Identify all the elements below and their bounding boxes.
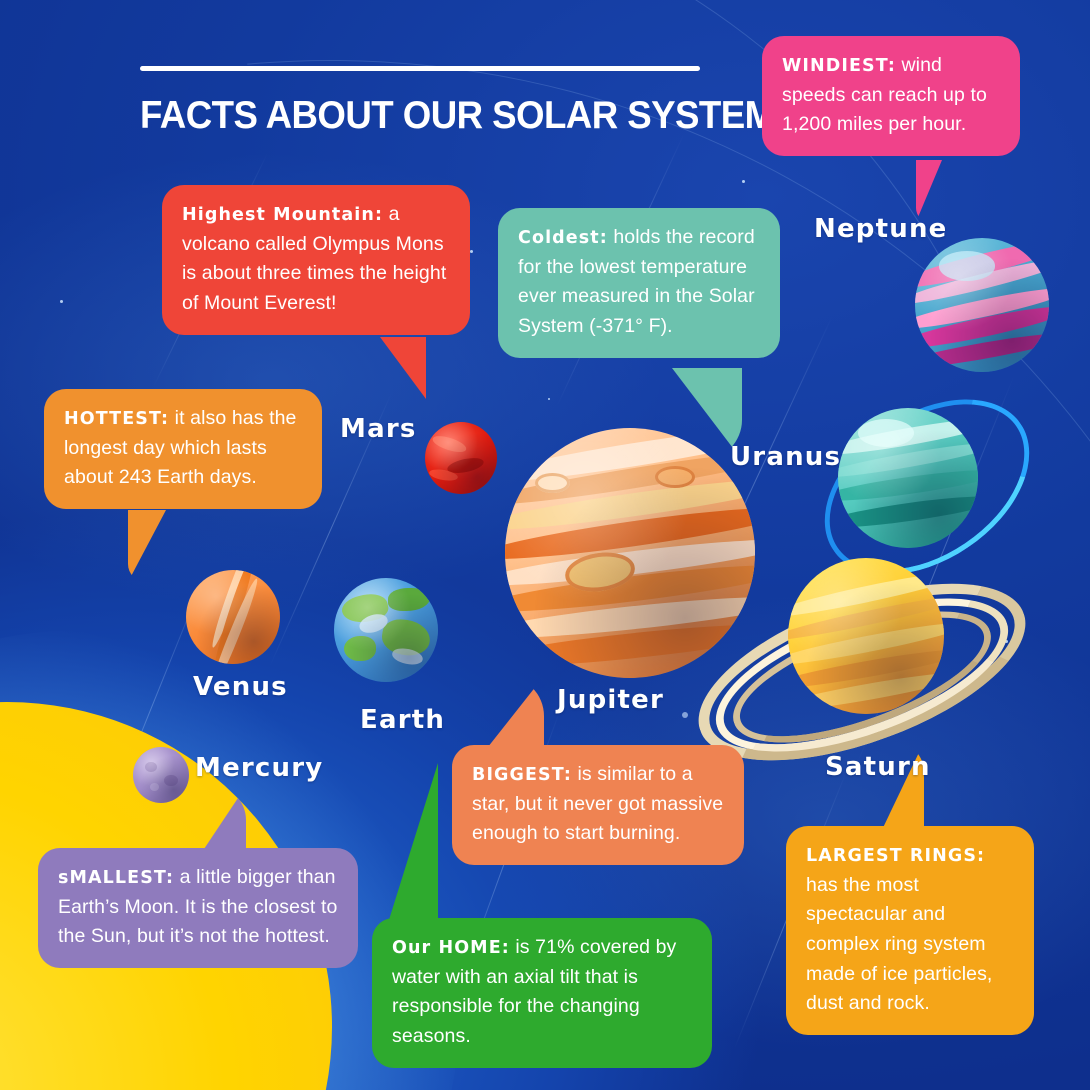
mercury-fact-lead: sMALLEST: <box>58 868 174 888</box>
page-title: FACTS ABOUT OUR SOLAR SYSTEM: <box>140 94 786 138</box>
venus-fact-lead: HOTTEST: <box>64 409 169 429</box>
planet-mercury <box>133 747 189 803</box>
earth-fact-bubble: Our HOME: is 71% covered by water with a… <box>372 918 712 1068</box>
title-rule <box>140 66 700 71</box>
planet-label-earth: Earth <box>360 705 445 735</box>
mars-fact-tail <box>380 337 426 399</box>
mercury-fact-bubble: sMALLEST: a little bigger than Earth’s M… <box>38 848 358 968</box>
earth-fact-lead: Our HOME: <box>392 938 510 958</box>
star <box>742 180 745 183</box>
planet-label-jupiter: Jupiter <box>557 685 664 715</box>
star <box>470 250 473 253</box>
venus-fact-tail <box>128 510 166 582</box>
earth-fact-tail <box>388 763 438 923</box>
neptune-fact-tail <box>916 160 942 222</box>
planet-label-uranus: Uranus <box>730 442 841 472</box>
planet-label-mercury: Mercury <box>195 753 323 783</box>
planet-label-venus: Venus <box>193 672 288 702</box>
jupiter-fact-lead: BIGGEST: <box>472 765 572 785</box>
star <box>60 300 63 303</box>
jupiter-fact-bubble: BIGGEST: is similar to a star, but it ne… <box>452 745 744 865</box>
planet-label-neptune: Neptune <box>814 214 948 244</box>
neptune-fact-bubble: WINDIEST: wind speeds can reach up to 1,… <box>762 36 1020 156</box>
neptune-fact-lead: WINDIEST: <box>782 56 896 76</box>
star <box>682 712 688 718</box>
saturn-fact-lead: LARGEST RINGS: <box>806 846 985 866</box>
saturn-fact-body: has the most spectacular and complex rin… <box>806 874 992 1015</box>
star <box>548 398 550 400</box>
venus-fact-bubble: HOTTEST: it also has the longest day whi… <box>44 389 322 509</box>
saturn-fact-bubble: LARGEST RINGS: has the most spectacular … <box>786 826 1034 1035</box>
planet-label-mars: Mars <box>340 414 417 444</box>
uranus-fact-bubble: Coldest: holds the record for the lowest… <box>498 208 780 358</box>
mercury-fact-tail <box>194 786 246 864</box>
planet-neptune <box>915 238 1049 372</box>
jupiter-fact-tail <box>484 676 544 752</box>
mars-fact-bubble: Highest Mountain: a volcano called Olymp… <box>162 185 470 335</box>
planet-mars <box>425 422 497 494</box>
solar-system-infographic: FACTS ABOUT OUR SOLAR SYSTEM: <box>0 0 1090 1090</box>
planet-venus <box>186 570 280 664</box>
uranus-ring-front-group <box>812 398 1042 578</box>
uranus-fact-lead: Coldest: <box>518 228 608 248</box>
planet-earth <box>334 578 438 682</box>
mars-fact-lead: Highest Mountain: <box>182 205 383 225</box>
planet-label-saturn: Saturn <box>825 752 931 782</box>
